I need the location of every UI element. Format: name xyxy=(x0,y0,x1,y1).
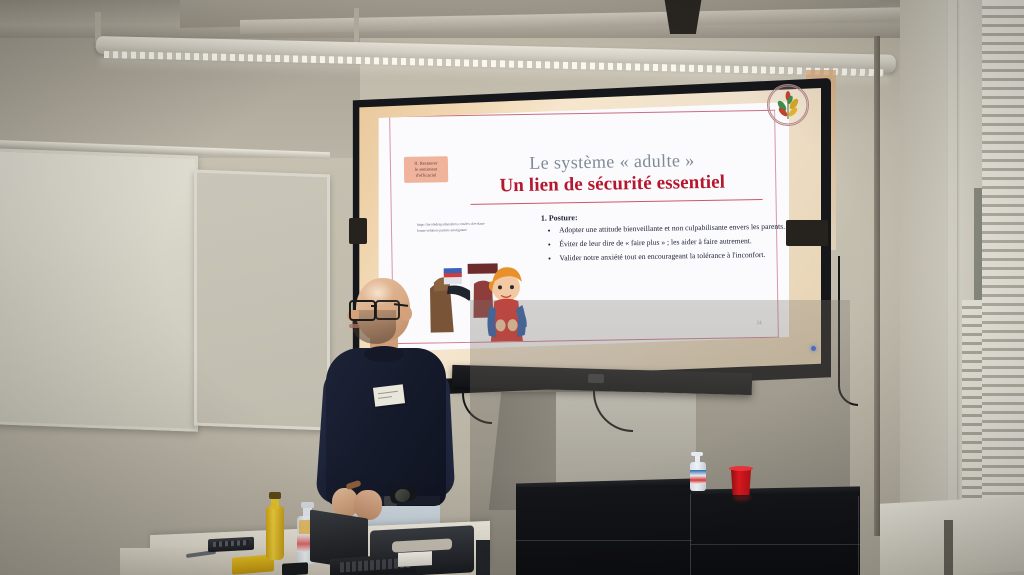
slide-section-chip: II. Restaurer le sentiment d'efficacité xyxy=(404,156,448,183)
cabinet-right-edge xyxy=(858,496,859,575)
cabinet-seam-2 xyxy=(690,544,860,545)
second-chair xyxy=(476,540,490,575)
cup-reflection xyxy=(733,494,751,501)
leaf-branch-logo-icon xyxy=(767,84,809,126)
side-desk-leg xyxy=(944,520,953,575)
cabinet-right xyxy=(690,494,860,575)
cabinet-left xyxy=(516,487,692,575)
screen-overlay-bar-left xyxy=(349,218,367,244)
classroom-photo: II. Restaurer le sentiment d'efficacité … xyxy=(0,0,1024,575)
torso-sweatshirt xyxy=(326,348,446,506)
right-hand xyxy=(354,490,382,520)
sweatshirt-collar xyxy=(364,346,404,362)
cabinet-seam-1 xyxy=(516,540,692,541)
water-bottle-cap xyxy=(301,502,314,508)
chip-line-3: d'efficacité xyxy=(416,172,437,178)
vertical-pole xyxy=(874,36,880,536)
slide-title-rule xyxy=(471,199,763,205)
whiteboard-right xyxy=(194,170,330,431)
cup-rim xyxy=(729,466,753,471)
slide-section-heading: 1. Posture: xyxy=(541,213,578,223)
glasses-icon xyxy=(349,300,376,321)
window-blinds-lower-icon xyxy=(962,300,984,520)
window-blinds-icon xyxy=(982,0,1024,500)
cabinet-divider xyxy=(690,494,691,575)
window-mullion xyxy=(948,0,957,520)
yellow-bottle-cap xyxy=(269,492,281,499)
slide-source-url: https://lecoledesparlansleres.com/les-cl… xyxy=(417,222,487,234)
screen-overlay-bar-right xyxy=(786,220,828,246)
sanitizer-label xyxy=(690,470,706,484)
whiteboard-left xyxy=(0,148,198,432)
red-plastic-cup xyxy=(730,468,752,495)
glasses-bridge xyxy=(371,305,377,307)
ear xyxy=(401,306,412,321)
light-hanger-rod-2 xyxy=(354,8,359,44)
yellow-bottle xyxy=(266,506,284,560)
list-item: Valider notre anxiété tout en encouragea… xyxy=(559,248,789,264)
slide-bullet-list: Adopter une attitude bienveillante et no… xyxy=(547,221,790,266)
phone xyxy=(282,562,308,575)
mouth xyxy=(349,324,360,328)
sanitizer-nozzle-icon xyxy=(691,452,703,456)
papers xyxy=(398,551,432,567)
slide-title-main: Un lien de sécurité essentiel xyxy=(452,171,772,198)
